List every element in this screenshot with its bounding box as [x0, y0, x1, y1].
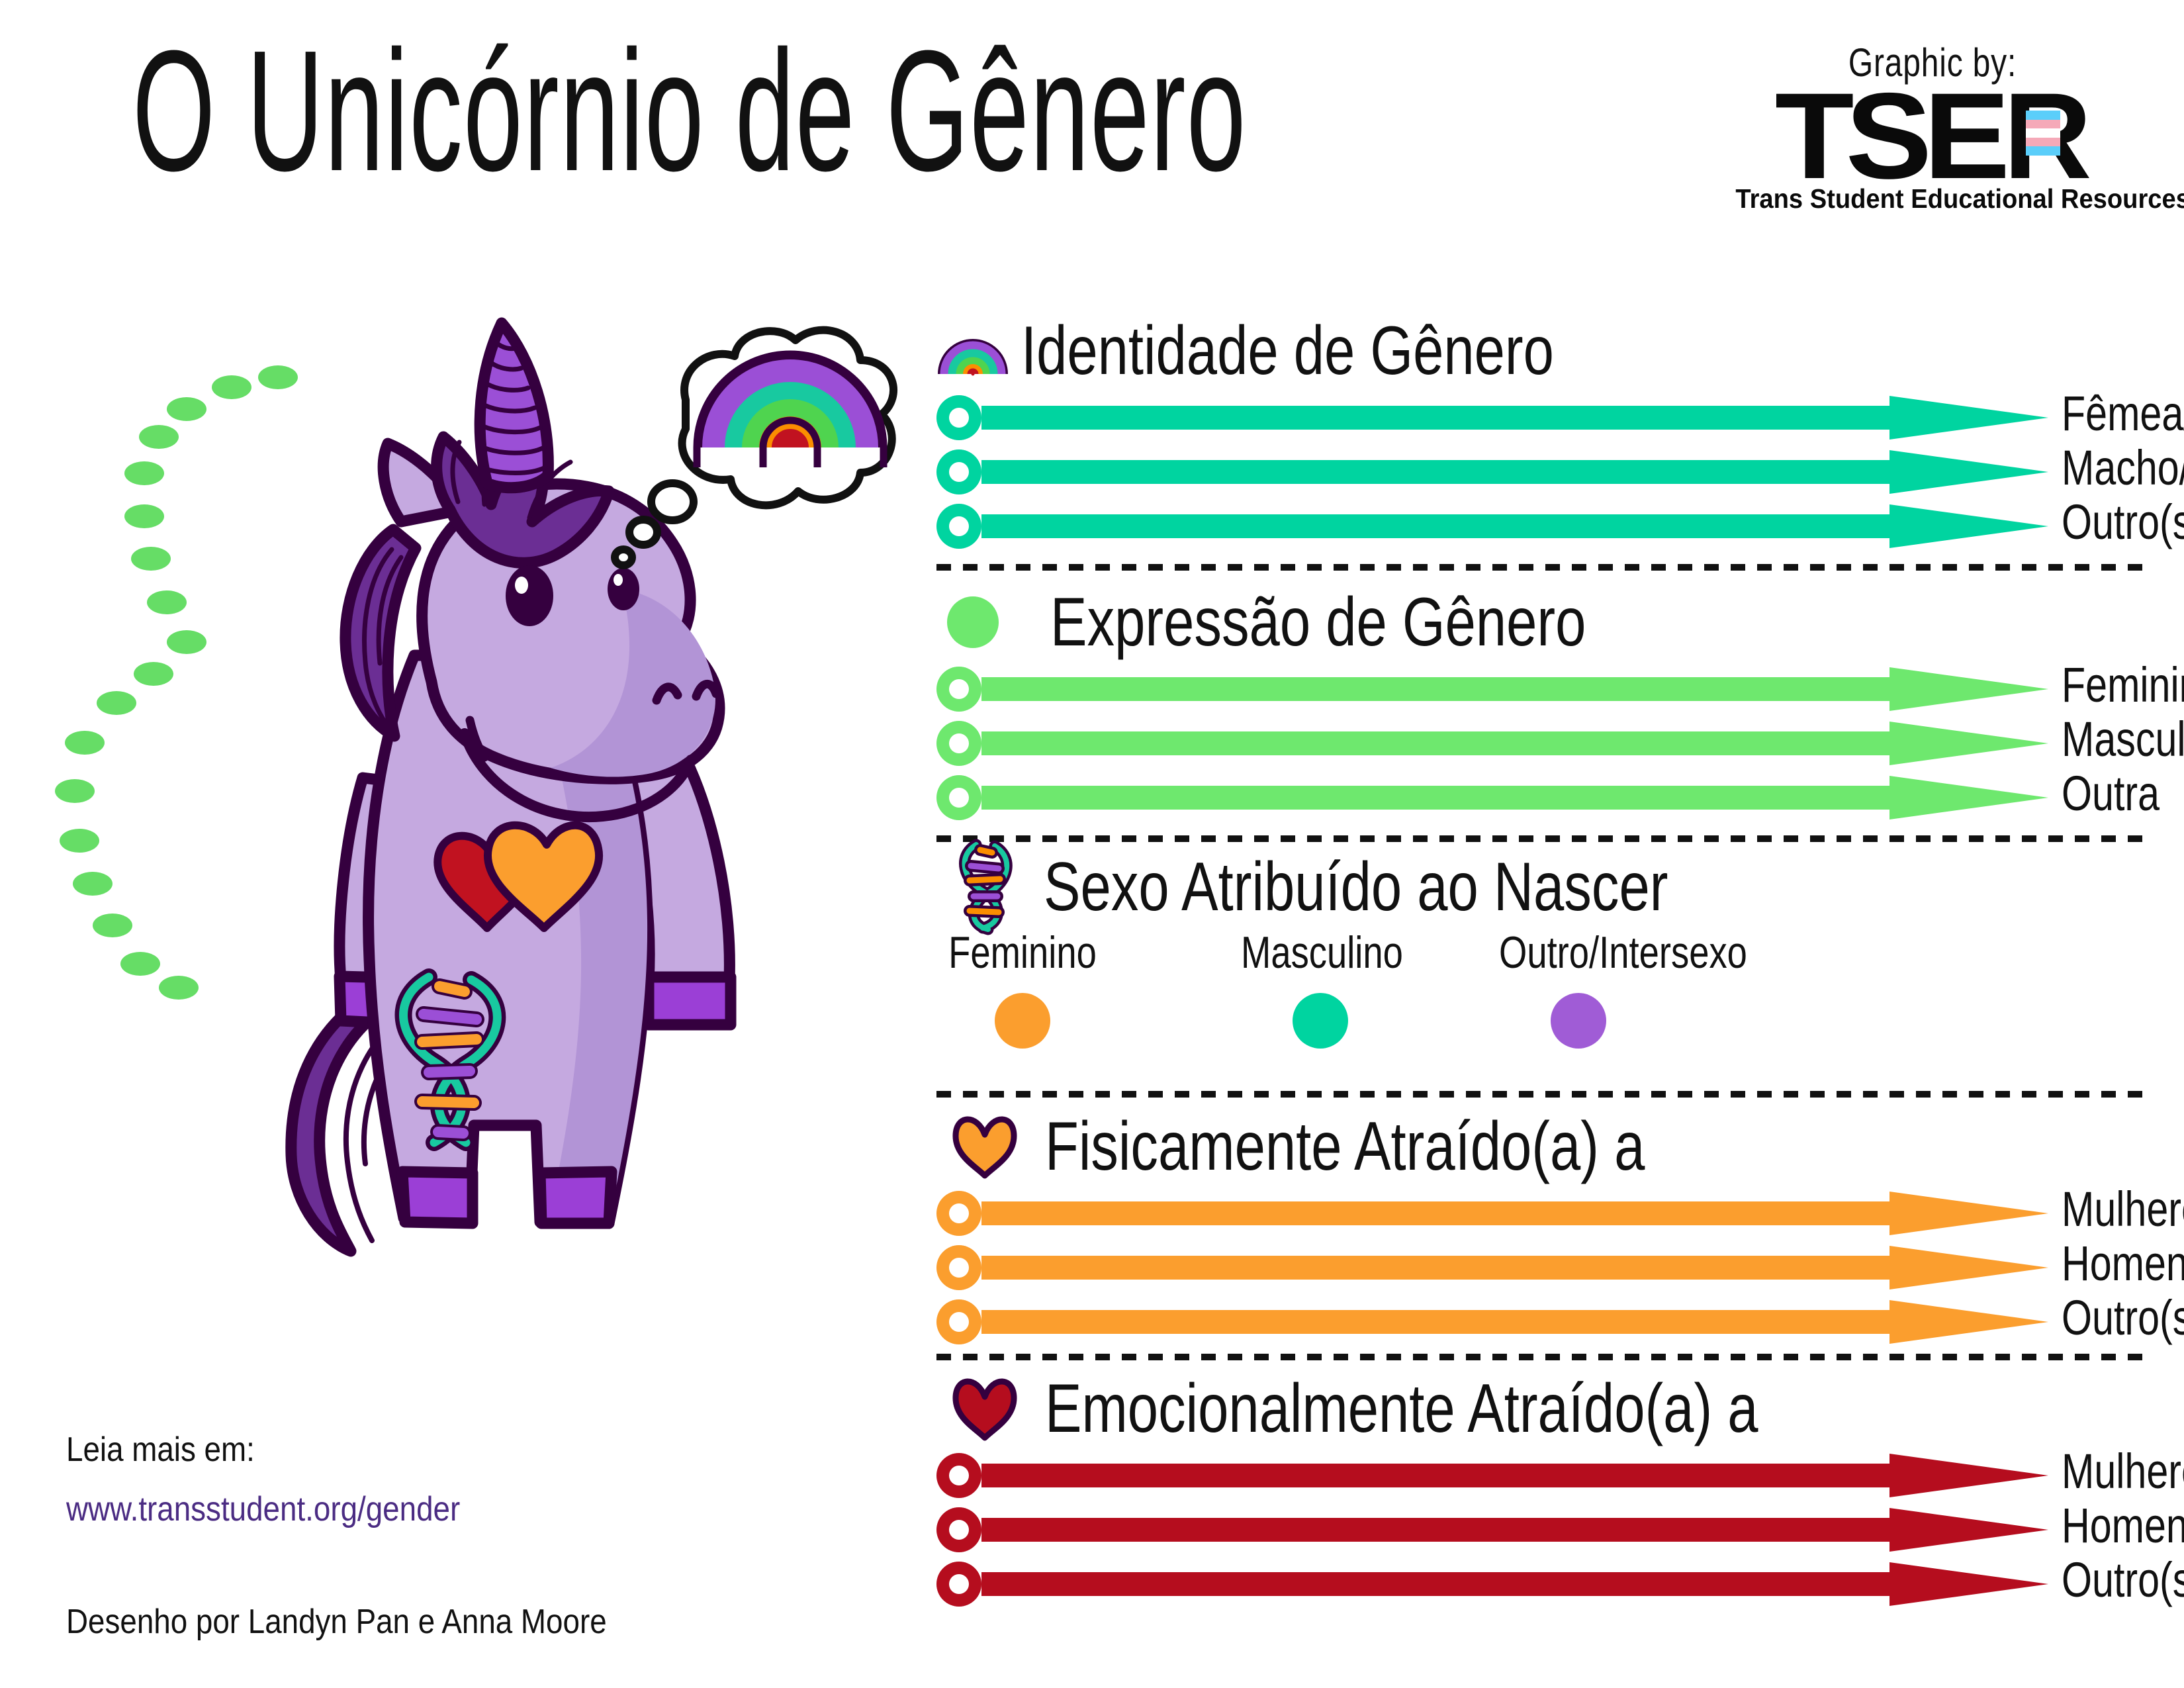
- credit-line: Desenho por Landyn Pan e Anna Moore: [66, 1602, 607, 1642]
- spectrum-row[interactable]: Feminina: [936, 662, 2148, 716]
- spectrum-label: Mulheres: [2062, 1443, 2184, 1499]
- section-divider: [936, 1354, 2148, 1360]
- read-more-label: Leia mais em:: [66, 1430, 255, 1470]
- arrow-head-icon: [1889, 722, 2048, 765]
- section-title: Sexo Atribuído ao Nascer: [1044, 853, 1668, 921]
- section-divider: [936, 1091, 2148, 1098]
- section-divider: [936, 835, 2148, 842]
- tser-tagline: Trans Student Educational Resources: [1735, 183, 2129, 214]
- dna-icon: [950, 854, 1023, 920]
- tser-logo-block: Graphic by: T S E R Trans Student Educat…: [1721, 40, 2144, 214]
- section-emotional-attraction: Emocionalmente Atraído(a) a Mulheres Hom…: [936, 1369, 2148, 1611]
- read-more-url-link[interactable]: www.transstudent.org/gender: [66, 1489, 460, 1529]
- page-title: O Unicórnio de Gênero: [132, 25, 1247, 197]
- section-header: Fisicamente Atraído(a) a: [948, 1107, 2148, 1186]
- spectrum-rows: Feminina Masculina Outra: [936, 662, 2148, 825]
- spectrum-row[interactable]: Mulheres: [936, 1448, 2148, 1503]
- section-physical-attraction: Fisicamente Atraído(a) a Mulheres Homens…: [936, 1107, 2148, 1349]
- spectrum-row[interactable]: Outra: [936, 771, 2148, 825]
- spectrum-row[interactable]: Homens: [936, 1241, 2148, 1295]
- tser-wordmark: T S E R: [1721, 87, 2144, 187]
- spectrum-knob[interactable]: [936, 775, 981, 820]
- spectrum-row[interactable]: Outro(s) Gênero(s): [936, 499, 2148, 553]
- sab-option-feminino[interactable]: Feminino: [923, 927, 1122, 1049]
- tser-letter-e: E: [1923, 87, 2005, 187]
- tser-letter-s: S: [1846, 87, 1928, 187]
- spectrum-knob[interactable]: [936, 1299, 981, 1344]
- spectrum-bar: [981, 677, 1901, 701]
- spectrum-knob[interactable]: [936, 1245, 981, 1290]
- sex-assigned-options: Feminino Masculino Outro/Intersexo: [936, 927, 2148, 1099]
- rainbow-icon: [936, 318, 1009, 384]
- spectrum-knob[interactable]: [936, 667, 981, 712]
- spectrum-knob[interactable]: [936, 395, 981, 440]
- sab-option-masculino[interactable]: Masculino: [1221, 927, 1420, 1049]
- arrow-head-icon: [1889, 776, 2048, 820]
- arrow-head-icon: [1889, 1192, 2048, 1235]
- spectrum-label: Masculina: [2062, 711, 2184, 767]
- spectrum-bar: [981, 786, 1901, 810]
- spectrum-knob[interactable]: [936, 1562, 981, 1607]
- section-gender-expression: Expressão de Gênero Feminina Masculina O…: [936, 583, 2148, 825]
- infographic-canvas: O Unicórnio de Gênero Graphic by: T S E …: [0, 0, 2184, 1688]
- spectrum-rows: Fêmea/Mulher/Menina Macho/Homem/Menino O…: [936, 391, 2148, 553]
- spectrum-label: Macho/Homem/Menino: [2062, 440, 2184, 496]
- spectrum-knob[interactable]: [936, 721, 981, 766]
- section-header: Emocionalmente Atraído(a) a: [948, 1369, 2148, 1448]
- spectrum-label: Outro(s) Gênero(s): [2062, 1289, 2184, 1346]
- spectrum-label: Homens: [2062, 1235, 2184, 1291]
- arrow-head-icon: [1889, 1508, 2048, 1552]
- heart-orange-icon: [948, 1113, 1021, 1180]
- spectrum-row[interactable]: Fêmea/Mulher/Menina: [936, 391, 2148, 445]
- spectrum-rows: Mulheres Homens Outro(s) Gênero(s): [936, 1186, 2148, 1349]
- spectrum-bar: [981, 1518, 1901, 1542]
- spectrum-row[interactable]: Outro(s) Gênero(s): [936, 1557, 2148, 1611]
- spectrum-label: Homens: [2062, 1497, 2184, 1554]
- spectrum-knob[interactable]: [936, 449, 981, 494]
- arrow-head-icon: [1889, 450, 2048, 494]
- spectrum-bar: [981, 1464, 1901, 1487]
- sab-dot: [1551, 993, 1606, 1049]
- section-title: Expressão de Gênero: [1050, 588, 1586, 657]
- sab-label: Feminino: [943, 927, 1102, 978]
- heart-red-icon: [948, 1376, 1021, 1442]
- spectrum-label: Outra: [2062, 765, 2160, 821]
- arrow-head-icon: [1889, 504, 2048, 548]
- spectrum-label: Feminina: [2062, 657, 2184, 713]
- spectrum-bar: [981, 731, 1901, 755]
- section-divider: [936, 564, 2148, 571]
- spectrum-label: Mulheres: [2062, 1181, 2184, 1237]
- sab-label: Outro/Intersexo: [1499, 927, 1658, 978]
- arrow-head-icon: [1889, 1246, 2048, 1289]
- section-header: Identidade de Gênero: [936, 311, 2148, 391]
- spectrum-row[interactable]: Homens: [936, 1503, 2148, 1557]
- section-header: Expressão de Gênero: [936, 583, 2148, 662]
- section-title: Emocionalmente Atraído(a) a: [1045, 1374, 1758, 1443]
- tser-letter-t: T: [1775, 87, 1850, 187]
- spectrum-knob[interactable]: [936, 504, 981, 549]
- sab-option-outro-intersexo[interactable]: Outro/Intersexo: [1479, 927, 1678, 1049]
- spectrum-bar: [981, 460, 1901, 484]
- section-header: Sexo Atribuído ao Nascer: [950, 847, 2148, 927]
- spectrum-row[interactable]: Macho/Homem/Menino: [936, 445, 2148, 499]
- thought-bubble: [609, 311, 913, 589]
- sab-dot: [995, 993, 1050, 1049]
- arrow-head-icon: [1889, 1562, 2048, 1606]
- section-title: Identidade de Gênero: [1021, 316, 1554, 385]
- spectrum-bar: [981, 1256, 1901, 1280]
- spectrum-bar: [981, 514, 1901, 538]
- spectrum-row[interactable]: Mulheres: [936, 1186, 2148, 1241]
- green-circle-icon: [936, 589, 1009, 655]
- spectrum-knob[interactable]: [936, 1453, 981, 1498]
- spectrum-row[interactable]: Masculina: [936, 716, 2148, 771]
- arrow-head-icon: [1889, 667, 2048, 711]
- section-gender-identity: Identidade de Gênero Fêmea/Mulher/Menina…: [936, 311, 2148, 553]
- spectrum-bar: [981, 1310, 1901, 1334]
- sab-label: Masculino: [1241, 927, 1400, 978]
- arrow-head-icon: [1889, 1454, 2048, 1497]
- spectrum-knob[interactable]: [936, 1191, 981, 1236]
- spectrum-bar: [981, 1572, 1901, 1596]
- section-title: Fisicamente Atraído(a) a: [1045, 1112, 1645, 1181]
- spectrum-label: Fêmea/Mulher/Menina: [2062, 385, 2184, 442]
- tser-letter-r-wrap: R: [2003, 87, 2088, 187]
- spectrum-rows: Mulheres Homens Outro(s) Gênero(s): [936, 1448, 2148, 1611]
- spectrum-label: Outro(s) Gênero(s): [2062, 1552, 2184, 1608]
- arrow-head-icon: [1889, 1300, 2048, 1344]
- spectrum-bar: [981, 1201, 1901, 1225]
- section-sex-assigned-at-birth: Sexo Atribuído ao Nascer Feminino Mascul…: [936, 847, 2148, 1099]
- sab-dot: [1293, 993, 1348, 1049]
- spectrum-label: Outro(s) Gênero(s): [2062, 494, 2184, 550]
- arrow-head-icon: [1889, 396, 2048, 440]
- spectrum-bar: [981, 406, 1901, 430]
- spectrum-row[interactable]: Outro(s) Gênero(s): [936, 1295, 2148, 1349]
- spectrum-knob[interactable]: [936, 1507, 981, 1552]
